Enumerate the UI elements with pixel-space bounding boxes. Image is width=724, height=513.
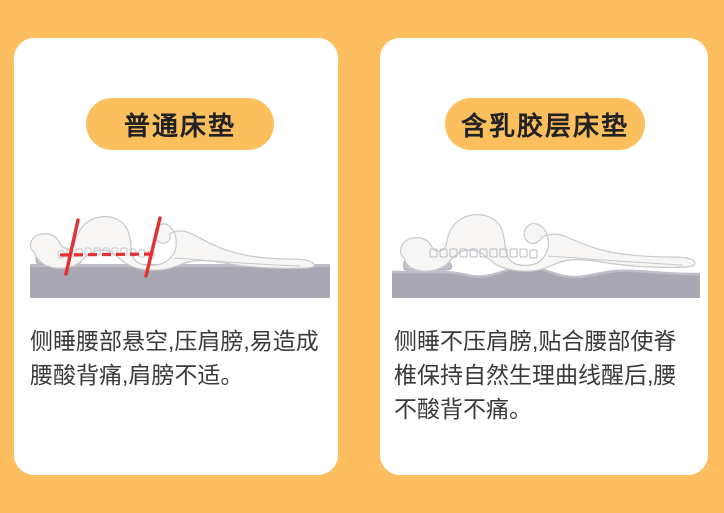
badge-latex-mattress: 含乳胶层床垫 xyxy=(445,98,645,150)
illustration-flat-mattress xyxy=(14,188,338,306)
badge-label: 含乳胶层床垫 xyxy=(461,106,629,143)
comparison-poster: 普通床垫 xyxy=(0,0,724,513)
mattress-contoured-shape xyxy=(392,267,700,298)
badge-label: 普通床垫 xyxy=(124,106,236,143)
illustration-contoured-mattress xyxy=(380,188,708,306)
red-dashed-spine-line xyxy=(60,254,156,255)
badge-ordinary-mattress: 普通床垫 xyxy=(86,98,274,150)
caption-latex-mattress: 侧睡不压肩膀,贴合腰部使脊椎保持自然生理曲线醒后,腰不酸背不痛。 xyxy=(394,324,698,426)
panel-latex-mattress: 含乳胶层床垫 xyxy=(380,38,708,475)
mattress-flat-shape xyxy=(30,264,330,298)
caption-ordinary-mattress: 侧睡腰部悬空,压肩膀,易造成腰酸背痛,肩膀不适。 xyxy=(30,324,326,392)
human-body-outline xyxy=(401,215,695,272)
panel-ordinary-mattress: 普通床垫 xyxy=(14,38,338,475)
